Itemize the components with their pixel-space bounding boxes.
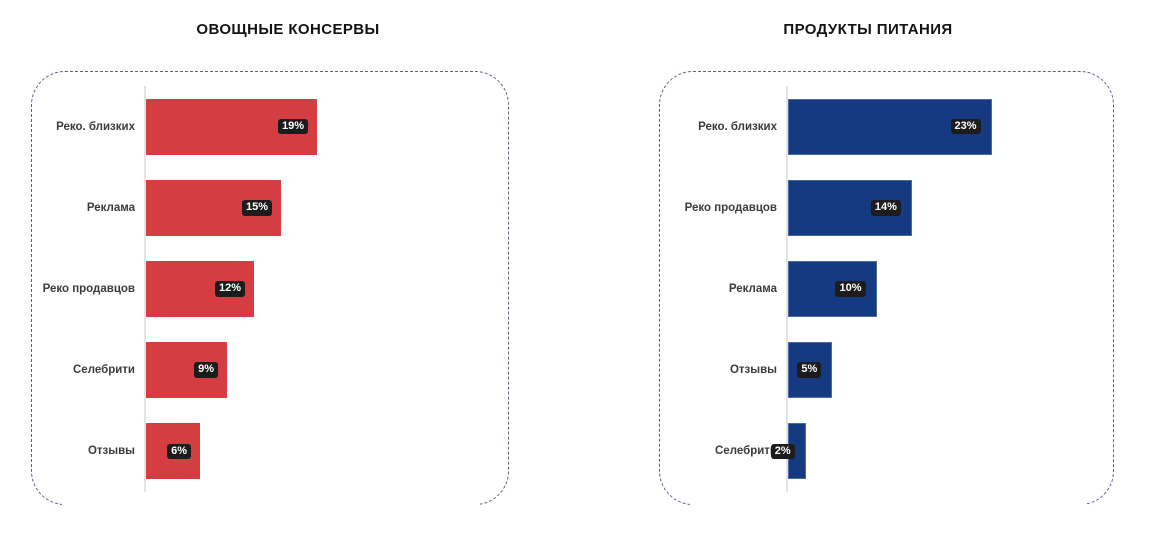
chart-panel-food-products: ПРОДУКТЫ ПИТАНИЯ Реко. близких23%Реко пр… <box>588 0 1176 534</box>
bar-row: Отзывы5% <box>662 342 1112 398</box>
bar-value-label: 9% <box>194 362 218 378</box>
bar-value-label: 15% <box>242 200 272 216</box>
category-label: Реко. близких <box>34 99 144 155</box>
bar-row: Селебрити2% <box>662 423 1112 479</box>
category-label: Реко продавцов <box>662 180 786 236</box>
category-label: Реклама <box>34 180 144 236</box>
frame-bottom-mask-right <box>690 494 1086 516</box>
bar-rows-left: Реко. близких19%Реклама15%Реко продавцов… <box>34 86 504 492</box>
bar: 19% <box>146 99 317 155</box>
bar-row: Реклама10% <box>662 261 1112 317</box>
category-label: Реко продавцов <box>34 261 144 317</box>
bar-row: Реклама15% <box>34 180 504 236</box>
category-label: Реклама <box>662 261 786 317</box>
bar-row: Отзывы6% <box>34 423 504 479</box>
bar-value-label: 14% <box>871 200 901 216</box>
bar: 14% <box>788 180 912 236</box>
plot-area-left: Реко. близких19%Реклама15%Реко продавцов… <box>34 86 504 492</box>
bar-row: Реко продавцов12% <box>34 261 504 317</box>
bar: 5% <box>788 342 832 398</box>
category-label: Селебрити <box>662 423 786 479</box>
bar-row: Селебрити9% <box>34 342 504 398</box>
bar-row: Реко. близких19% <box>34 99 504 155</box>
bar: 23% <box>788 99 992 155</box>
bar: 15% <box>146 180 281 236</box>
bar-value-label: 19% <box>278 119 308 135</box>
frame-bottom-mask-left <box>62 494 480 516</box>
bar-value-label: 2% <box>771 444 795 460</box>
category-label: Отзывы <box>662 342 786 398</box>
charts-board: ОВОЩНЫЕ КОНСЕРВЫ Реко. близких19%Реклама… <box>0 0 1176 534</box>
bar-value-label: 23% <box>951 119 981 135</box>
plot-area-right: Реко. близких23%Реко продавцов14%Реклама… <box>662 86 1112 492</box>
bar-rows-right: Реко. близких23%Реко продавцов14%Реклама… <box>662 86 1112 492</box>
category-label: Реко. близких <box>662 99 786 155</box>
bar: 6% <box>146 423 200 479</box>
bar-value-label: 6% <box>167 444 191 460</box>
bar: 2% <box>788 423 806 479</box>
chart-panel-vegetable-preserves: ОВОЩНЫЕ КОНСЕРВЫ Реко. близких19%Реклама… <box>0 0 588 534</box>
category-label: Селебрити <box>34 342 144 398</box>
bar-row: Реко продавцов14% <box>662 180 1112 236</box>
category-label: Отзывы <box>34 423 144 479</box>
page-title-left: ОВОЩНЫЕ КОНСЕРВЫ <box>0 21 582 38</box>
bar: 10% <box>788 261 877 317</box>
bar-value-label: 10% <box>835 281 865 297</box>
bar-row: Реко. близких23% <box>662 99 1112 155</box>
bar: 9% <box>146 342 227 398</box>
bar-value-label: 5% <box>797 362 821 378</box>
page-title-right: ПРОДУКТЫ ПИТАНИЯ <box>574 21 1162 38</box>
bar: 12% <box>146 261 254 317</box>
bar-value-label: 12% <box>215 281 245 297</box>
